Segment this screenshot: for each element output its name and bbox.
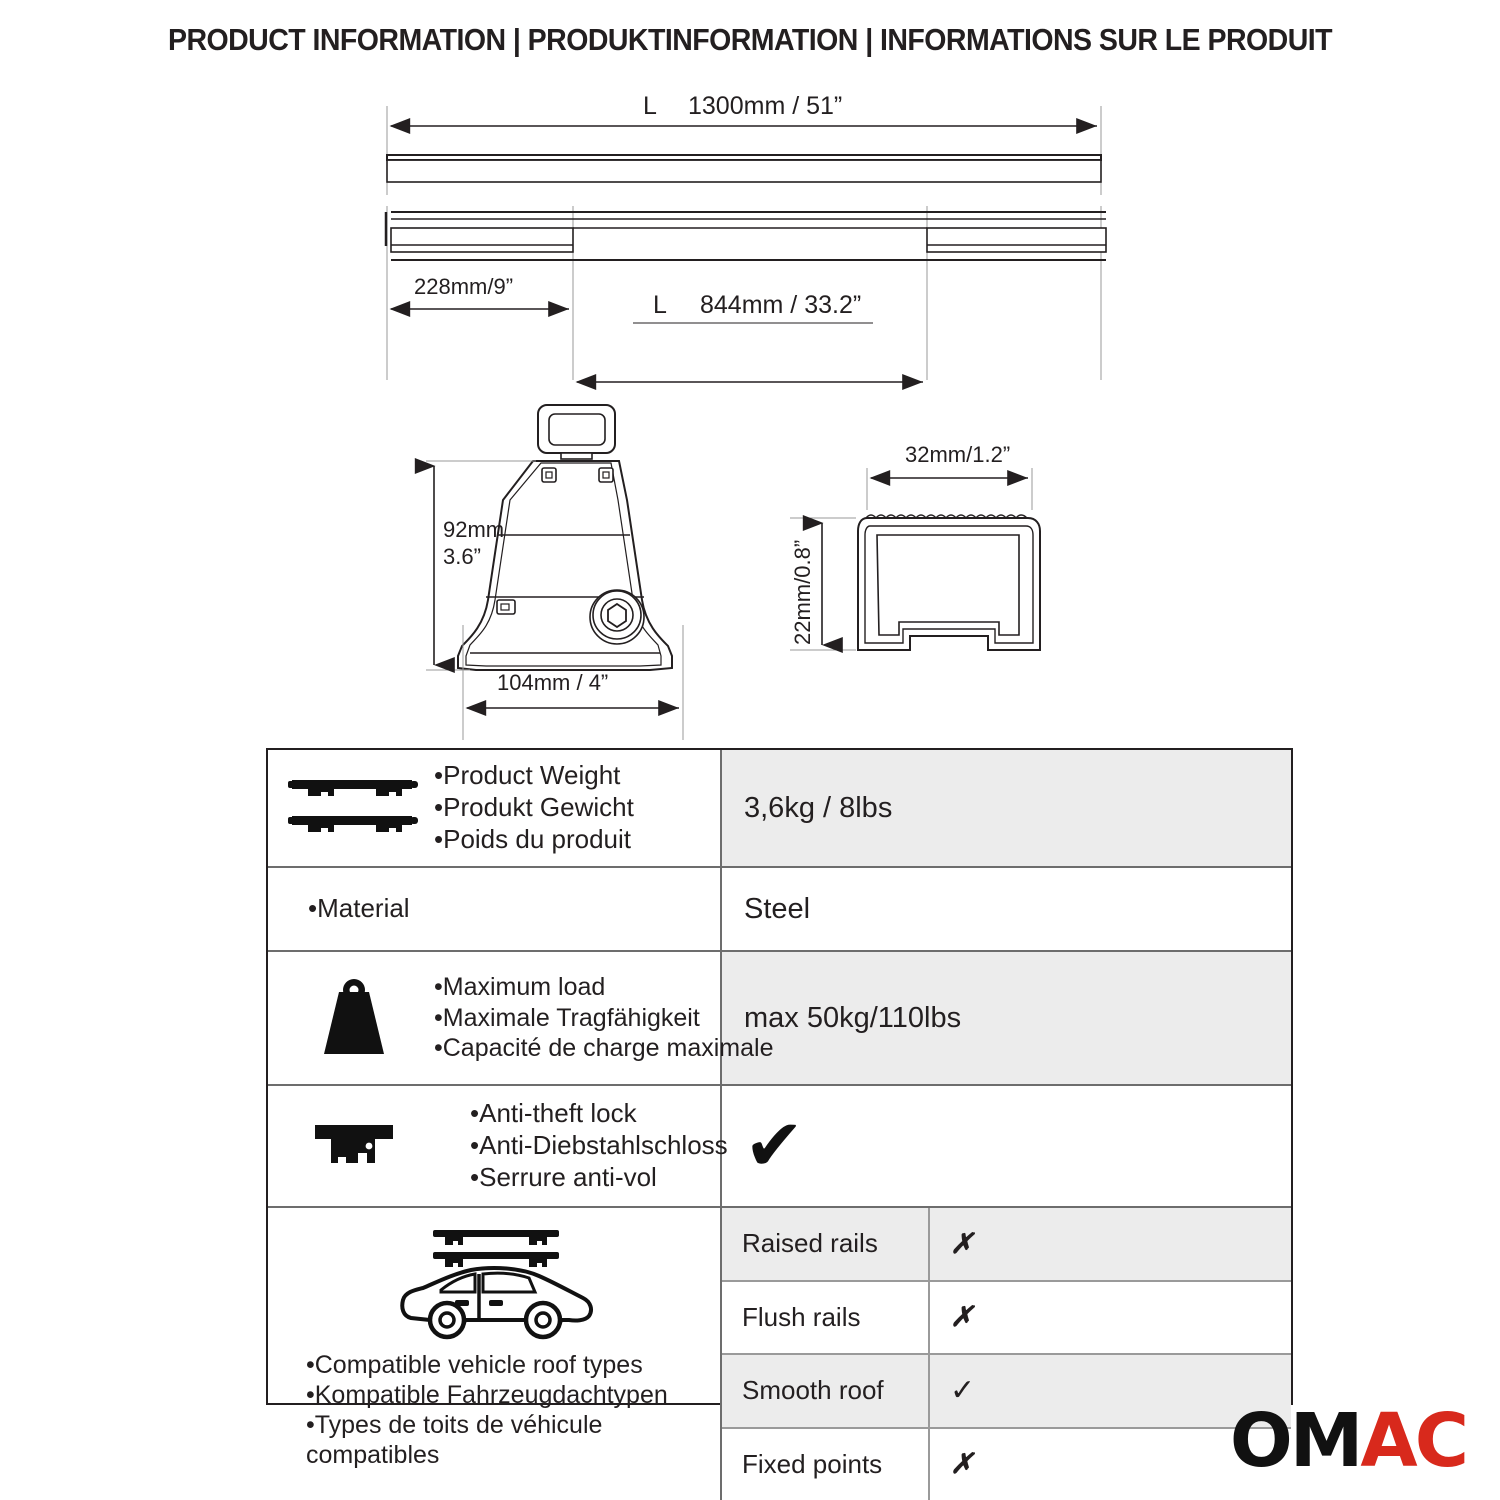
compat-row-fixed-points: Fixed points ✗	[722, 1429, 1291, 1500]
compatibility-table: Raised rails ✗ Flush rails ✗ Smooth roof…	[720, 1208, 1291, 1500]
page-title: PRODUCT INFORMATION | PRODUKTINFORMATION…	[60, 22, 1440, 58]
bar-length-prefix: L	[643, 92, 657, 120]
table-row: •Product Weight •Produkt Gewicht •Poids …	[268, 750, 1291, 868]
span-prefix: L	[653, 291, 667, 319]
technical-drawing: L 1300mm / 51” 228mm/9” L	[0, 80, 1500, 740]
label-line: •Poids du produit	[434, 824, 718, 856]
row-label-cell: •Maximum load •Maximale Tragfähigkeit •C…	[268, 952, 720, 1084]
row-labels: •Material	[308, 893, 720, 925]
label-line: •Compatible vehicle roof types	[306, 1350, 720, 1380]
foot-offset-value: 228mm/9”	[414, 274, 513, 299]
compat-row-flush-rails: Flush rails ✗	[722, 1282, 1291, 1356]
weight-icon	[274, 976, 434, 1060]
label-line: •Maximale Tragfähigkeit	[434, 1003, 773, 1034]
foot-height-line2: 3.6”	[443, 544, 481, 569]
cross-icon: ✗	[950, 1230, 973, 1258]
compat-key: Smooth roof	[722, 1375, 928, 1406]
table-row: •Maximum load •Maximale Tragfähigkeit •C…	[268, 952, 1291, 1086]
compatibility-labels: •Compatible vehicle roof types •Kompatib…	[276, 1350, 720, 1470]
row-labels: •Product Weight •Produkt Gewicht •Poids …	[434, 760, 720, 855]
span-value: 844mm / 33.2”	[700, 291, 861, 319]
profile-height-value: 22mm/0.8”	[790, 540, 815, 645]
label-line: •Maximum load	[434, 972, 773, 1003]
label-line: •Anti-Diebstahlschloss	[470, 1130, 728, 1162]
compat-value: ✗	[928, 1282, 1291, 1354]
row-labels: •Maximum load •Maximale Tragfähigkeit •C…	[434, 972, 775, 1064]
row-label-cell: •Compatible vehicle roof types •Kompatib…	[268, 1208, 720, 1500]
label-line: •Serrure anti-vol	[470, 1162, 728, 1194]
row-labels: •Anti-theft lock •Anti-Diebstahlschloss …	[434, 1098, 730, 1193]
car-with-rack-icon	[276, 1220, 720, 1346]
material-value: Steel	[720, 868, 1291, 950]
label-line: •Capacité de charge maximale	[434, 1033, 773, 1064]
compat-key: Raised rails	[722, 1228, 928, 1259]
lock-icon	[274, 1115, 434, 1177]
label-line: •Kompatible Fahrzeugdachtypen	[306, 1380, 720, 1410]
cross-icon: ✗	[950, 1303, 973, 1331]
logo-text-red: AC	[1360, 1404, 1466, 1478]
label-line: •Types de toits de véhicule compatibles	[306, 1410, 720, 1470]
compat-row-smooth-roof: Smooth roof ✓	[722, 1355, 1291, 1429]
logo-text-dark: OM	[1230, 1404, 1361, 1478]
compat-key: Flush rails	[722, 1302, 928, 1333]
compat-key: Fixed points	[722, 1449, 928, 1480]
anti-theft-lock-value: ✔	[720, 1086, 1291, 1206]
check-icon: ✔	[744, 1117, 804, 1175]
table-row: •Anti-theft lock •Anti-Diebstahlschloss …	[268, 1086, 1291, 1208]
cross-icon: ✗	[950, 1450, 973, 1478]
row-label-cell: •Product Weight •Produkt Gewicht •Poids …	[268, 750, 720, 866]
max-load-value: max 50kg/110lbs	[720, 952, 1291, 1084]
product-weight-value: 3,6kg / 8lbs	[720, 750, 1291, 866]
label-line: •Produkt Gewicht	[434, 792, 718, 824]
page-header: PRODUCT INFORMATION | PRODUKTINFORMATION…	[0, 22, 1500, 58]
omac-logo: OM AC	[1230, 1404, 1466, 1478]
bar-length-value: 1300mm / 51”	[688, 92, 842, 120]
row-label-cell: •Anti-theft lock •Anti-Diebstahlschloss …	[268, 1086, 720, 1206]
label-line: •Anti-theft lock	[470, 1098, 728, 1130]
profile-width-value: 32mm/1.2”	[905, 442, 1010, 467]
label-line: •Material	[308, 893, 718, 925]
row-label-cell: •Material	[268, 868, 720, 950]
check-icon: ✓	[950, 1376, 975, 1406]
compat-row-raised-rails: Raised rails ✗	[722, 1208, 1291, 1282]
compat-value: ✗	[928, 1208, 1291, 1280]
specification-table: •Product Weight •Produkt Gewicht •Poids …	[266, 748, 1293, 1405]
table-row: •Compatible vehicle roof types •Kompatib…	[268, 1208, 1291, 1500]
label-line: •Product Weight	[434, 760, 718, 792]
foot-height-line1: 92mm	[443, 517, 504, 542]
foot-width-value: 104mm / 4”	[497, 670, 608, 695]
roof-bars-icon	[274, 772, 434, 844]
table-row: •Material Steel	[268, 868, 1291, 952]
